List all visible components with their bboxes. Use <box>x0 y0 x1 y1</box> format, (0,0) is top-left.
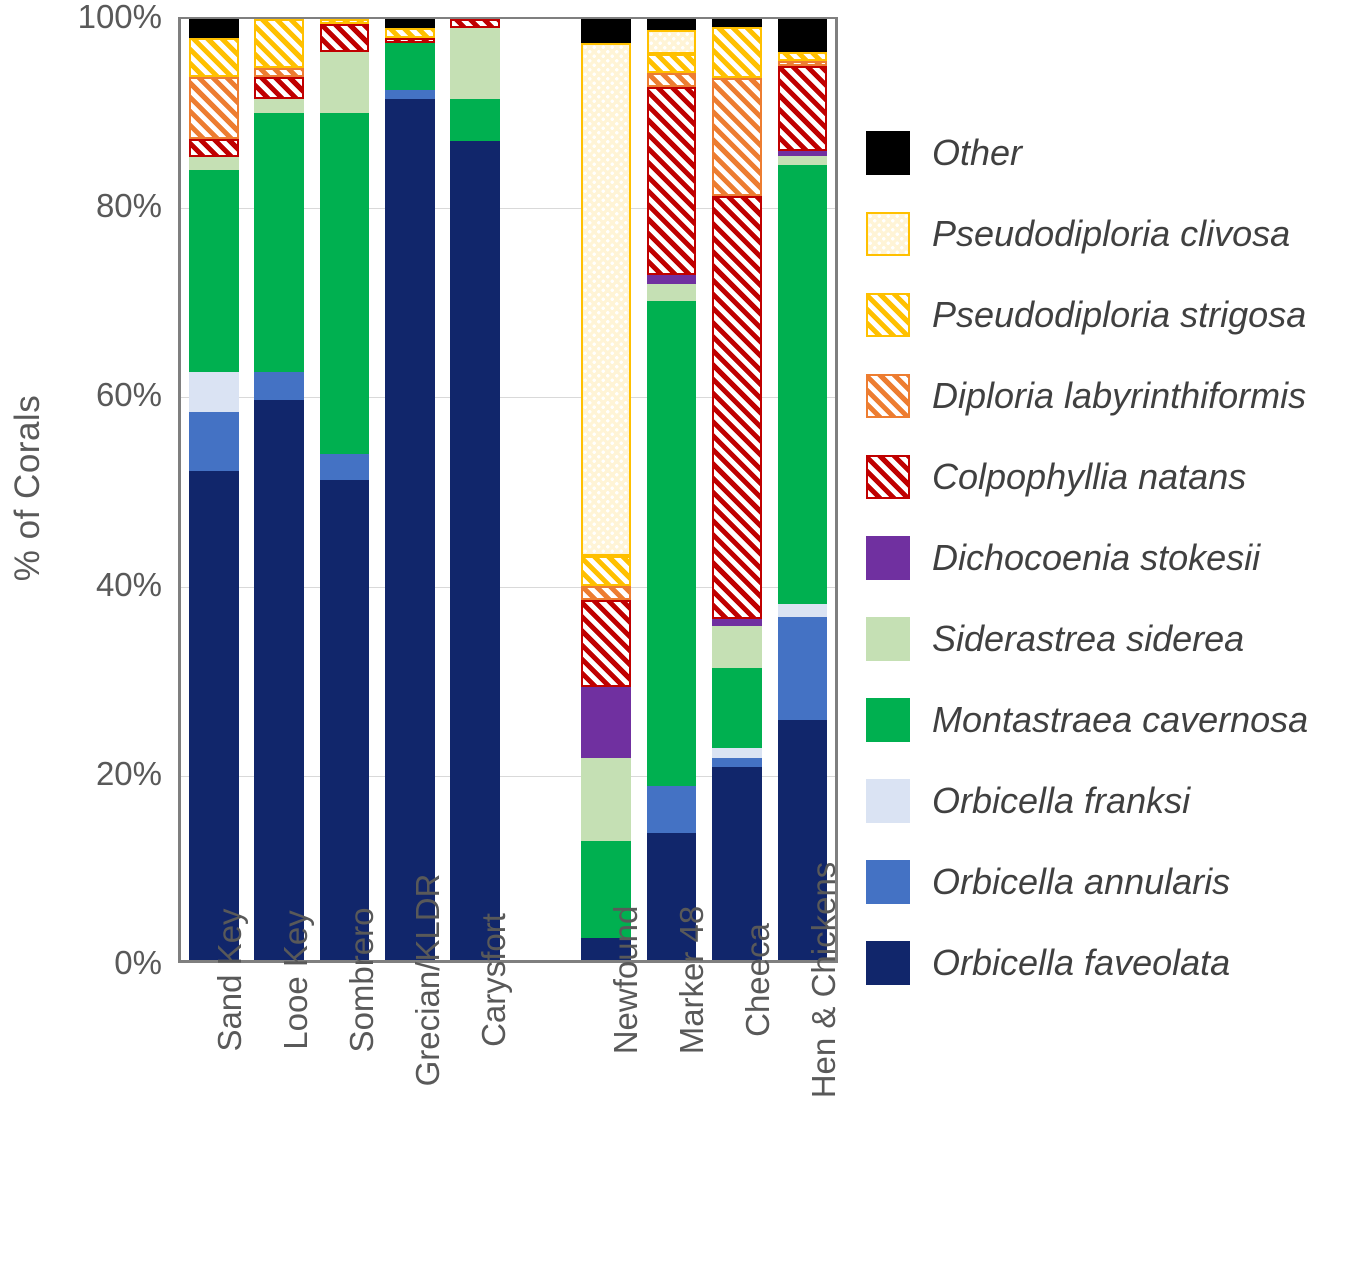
bar-segment-orbicella-annularis[interactable] <box>778 617 828 721</box>
bar-segment-pseudodiploria-strigosa[interactable] <box>320 19 370 24</box>
x-tick-slot <box>508 968 574 1268</box>
stacked-bar[interactable] <box>778 19 828 960</box>
bar-segment-diploria-labyrinthiformis[interactable] <box>581 586 631 599</box>
bar-segment-siderastrea-siderea[interactable] <box>254 99 304 113</box>
bar-segment-orbicella-faveolata[interactable] <box>385 99 435 960</box>
x-tick-slot: Carysfort <box>442 968 508 1268</box>
bar-segment-orbicella-annularis[interactable] <box>385 90 435 99</box>
bar-segment-diploria-labyrinthiformis[interactable] <box>778 61 828 66</box>
bar-segment-diploria-labyrinthiformis[interactable] <box>254 68 304 77</box>
legend-item-dichocoenia-stokesii[interactable]: Dichocoenia stokesii <box>866 517 1336 598</box>
bar-segment-montastraea-cavernosa[interactable] <box>712 668 762 748</box>
bar-segment-montastraea-cavernosa[interactable] <box>450 99 500 141</box>
y-axis-title: % of Corals <box>0 0 58 975</box>
bar-segment-dichocoenia-stokesii[interactable] <box>581 687 631 758</box>
legend-key-dichocoenia-stokesii <box>866 536 910 580</box>
bar-segment-dichocoenia-stokesii[interactable] <box>647 275 697 284</box>
bar-series-container <box>181 19 835 960</box>
bar-hen-chickens <box>770 19 835 960</box>
legend-item-other[interactable]: Other <box>866 112 1336 193</box>
stacked-bar[interactable] <box>320 19 370 960</box>
bar-segment-montastraea-cavernosa[interactable] <box>189 170 239 372</box>
bar-segment-siderastrea-siderea[interactable] <box>450 28 500 99</box>
legend-item-orbicella-faveolata[interactable]: Orbicella faveolata <box>866 922 1336 1003</box>
bar-segment-orbicella-annularis[interactable] <box>712 758 762 767</box>
x-tick-slot: Cheeca <box>706 968 772 1268</box>
x-axis-label-hen-chickens: Hen & Chickens <box>805 862 843 1099</box>
stacked-bar[interactable] <box>450 19 500 960</box>
bar-segment-orbicella-annularis[interactable] <box>647 786 697 833</box>
legend-label: Orbicella annularis <box>932 861 1230 903</box>
bar-segment-pseudodiploria-strigosa[interactable] <box>647 54 697 73</box>
legend-item-diploria-labyrinthiformis[interactable]: Diploria labyrinthiformis <box>866 355 1336 436</box>
bar-segment-siderastrea-siderea[interactable] <box>189 157 239 169</box>
legend-key-pseudodiploria-clivosa <box>866 212 910 256</box>
y-axis-tick-80pct: 80% <box>96 187 162 225</box>
legend-key-montastraea-cavernosa <box>866 698 910 742</box>
bar-segment-siderastrea-siderea[interactable] <box>320 52 370 113</box>
legend-item-pseudodiploria-strigosa[interactable]: Pseudodiploria strigosa <box>866 274 1336 355</box>
bar-segment-orbicella-faveolata[interactable] <box>254 400 304 960</box>
y-axis-title-text: % of Corals <box>8 394 48 580</box>
legend-key-orbicella-annularis <box>866 860 910 904</box>
bar-segment-orbicella-faveolata[interactable] <box>320 480 370 960</box>
bar-segment-siderastrea-siderea[interactable] <box>581 758 631 841</box>
legend-label: Orbicella franksi <box>932 780 1190 822</box>
bar-segment-montastraea-cavernosa[interactable] <box>647 301 697 786</box>
bar-segment-orbicella-franksi[interactable] <box>778 604 828 616</box>
bar-segment-siderastrea-siderea[interactable] <box>647 284 697 301</box>
stacked-bar[interactable] <box>385 19 435 960</box>
x-tick-slot: Newfound <box>574 968 640 1268</box>
x-tick-slot: Looe Key <box>244 968 310 1268</box>
y-axis-tick-40pct: 40% <box>96 566 162 604</box>
x-tick-slot: Hen & Chickens <box>772 968 838 1268</box>
stacked-bar[interactable] <box>189 19 239 960</box>
legend-label: Orbicella faveolata <box>932 942 1230 984</box>
stacked-bar[interactable] <box>581 19 631 960</box>
legend-label: Montastraea cavernosa <box>932 699 1308 741</box>
bar-carysfort <box>443 19 508 960</box>
legend-label: Siderastrea siderea <box>932 618 1244 660</box>
legend-item-pseudodiploria-clivosa[interactable]: Pseudodiploria clivosa <box>866 193 1336 274</box>
bar-segment-diploria-labyrinthiformis[interactable] <box>712 78 762 196</box>
stacked-bar[interactable] <box>254 19 304 960</box>
legend-key-pseudodiploria-strigosa <box>866 293 910 337</box>
legend-label: Pseudodiploria clivosa <box>932 213 1290 255</box>
legend-key-orbicella-faveolata <box>866 941 910 985</box>
bar-segment-orbicella-franksi[interactable] <box>189 372 239 412</box>
stacked-bar[interactable] <box>712 19 762 960</box>
legend-item-montastraea-cavernosa[interactable]: Montastraea cavernosa <box>866 679 1336 760</box>
legend-key-diploria-labyrinthiformis <box>866 374 910 418</box>
y-axis-tick-0pct: 0% <box>114 944 162 982</box>
bar-segment-colpophyllia-natans[interactable] <box>647 87 697 275</box>
bar-segment-dichocoenia-stokesii[interactable] <box>712 619 762 626</box>
bar-segment-colpophyllia-natans[interactable] <box>778 66 828 151</box>
x-tick-slot: Sand Key <box>178 968 244 1268</box>
legend-item-orbicella-annularis[interactable]: Orbicella annularis <box>866 841 1336 922</box>
bar-segment-colpophyllia-natans[interactable] <box>712 196 762 619</box>
bar-segment-montastraea-cavernosa[interactable] <box>385 43 435 90</box>
bar-segment-colpophyllia-natans[interactable] <box>581 600 631 688</box>
bar-segment-pseudodiploria-strigosa[interactable] <box>189 38 239 78</box>
bar-segment-orbicella-annularis[interactable] <box>189 412 239 470</box>
bar-segment-other[interactable] <box>647 19 697 30</box>
bar-segment-siderastrea-siderea[interactable] <box>712 626 762 668</box>
legend-label: Dichocoenia stokesii <box>932 537 1260 579</box>
bar-marker-48 <box>639 19 704 960</box>
y-axis-tick-labels: 100%80%60%40%20%0% <box>60 0 172 975</box>
bar-segment-pseudodiploria-strigosa[interactable] <box>778 52 828 61</box>
bar-segment-orbicella-franksi[interactable] <box>712 748 762 757</box>
x-axis-tick-labels: Sand KeyLooe KeySombreroGrecian/KLDRCary… <box>178 968 838 1268</box>
legend-key-colpophyllia-natans <box>866 455 910 499</box>
legend-key-orbicella-franksi <box>866 779 910 823</box>
bar-segment-montastraea-cavernosa[interactable] <box>778 165 828 604</box>
legend-item-colpophyllia-natans[interactable]: Colpophyllia natans <box>866 436 1336 517</box>
chart-root: % of Corals 100%80%60%40%20%0% Sand KeyL… <box>0 0 1346 1277</box>
bar-segment-other[interactable] <box>778 19 828 52</box>
bar-segment-orbicella-faveolata[interactable] <box>450 141 500 960</box>
y-axis-tick-60pct: 60% <box>96 376 162 414</box>
bar-segment-dichocoenia-stokesii[interactable] <box>778 151 828 157</box>
bar-sand-key <box>181 19 246 960</box>
legend-item-orbicella-franksi[interactable]: Orbicella franksi <box>866 760 1336 841</box>
plot-area <box>178 17 838 963</box>
bar-segment-other[interactable] <box>385 19 435 28</box>
bar-segment-orbicella-annularis[interactable] <box>254 372 304 400</box>
bar-empty-slot <box>508 19 573 960</box>
legend-label: Diploria labyrinthiformis <box>932 375 1306 417</box>
x-tick-slot: Grecian/KLDR <box>376 968 442 1268</box>
legend-label: Pseudodiploria strigosa <box>932 294 1306 336</box>
bar-segment-montastraea-cavernosa[interactable] <box>254 113 304 372</box>
bar-segment-other[interactable] <box>581 19 631 43</box>
bar-segment-pseudodiploria-strigosa[interactable] <box>385 28 435 37</box>
stacked-bar[interactable] <box>647 19 697 960</box>
bar-cheeca <box>704 19 769 960</box>
bar-segment-montastraea-cavernosa[interactable] <box>320 113 370 454</box>
chart-legend: OtherPseudodiploria clivosaPseudodiplori… <box>866 112 1336 1003</box>
bar-segment-diploria-labyrinthiformis[interactable] <box>647 73 697 87</box>
bar-segment-pseudodiploria-strigosa[interactable] <box>712 27 762 79</box>
legend-key-other <box>866 131 910 175</box>
bar-segment-pseudodiploria-strigosa[interactable] <box>581 556 631 586</box>
bar-segment-pseudodiploria-strigosa[interactable] <box>254 19 304 68</box>
y-axis-tick-20pct: 20% <box>96 755 162 793</box>
bar-segment-siderastrea-siderea[interactable] <box>778 156 828 164</box>
bar-segment-other[interactable] <box>189 19 239 38</box>
bar-segment-other[interactable] <box>712 19 762 27</box>
x-tick-slot: Sombrero <box>310 968 376 1268</box>
bar-grecian-kldr <box>377 19 442 960</box>
bar-segment-colpophyllia-natans[interactable] <box>450 19 500 28</box>
bar-newfound <box>573 19 638 960</box>
bar-segment-orbicella-annularis[interactable] <box>320 454 370 480</box>
bar-segment-pseudodiploria-clivosa[interactable] <box>647 30 697 54</box>
y-axis-tick-100pct: 100% <box>78 0 162 36</box>
bar-segment-pseudodiploria-clivosa[interactable] <box>581 43 631 557</box>
bar-segment-diploria-labyrinthiformis[interactable] <box>189 77 239 138</box>
bar-looe-key <box>246 19 311 960</box>
legend-label: Other <box>932 132 1022 174</box>
bar-segment-colpophyllia-natans[interactable] <box>189 139 239 158</box>
bar-sombrero <box>312 19 377 960</box>
bar-segment-colpophyllia-natans[interactable] <box>385 38 435 43</box>
legend-label: Colpophyllia natans <box>932 456 1246 498</box>
bar-segment-colpophyllia-natans[interactable] <box>254 77 304 99</box>
legend-key-siderastrea-siderea <box>866 617 910 661</box>
x-tick-slot: Marker 48 <box>640 968 706 1268</box>
legend-item-siderastrea-siderea[interactable]: Siderastrea siderea <box>866 598 1336 679</box>
bar-segment-colpophyllia-natans[interactable] <box>320 24 370 52</box>
bar-segment-orbicella-faveolata[interactable] <box>189 471 239 960</box>
